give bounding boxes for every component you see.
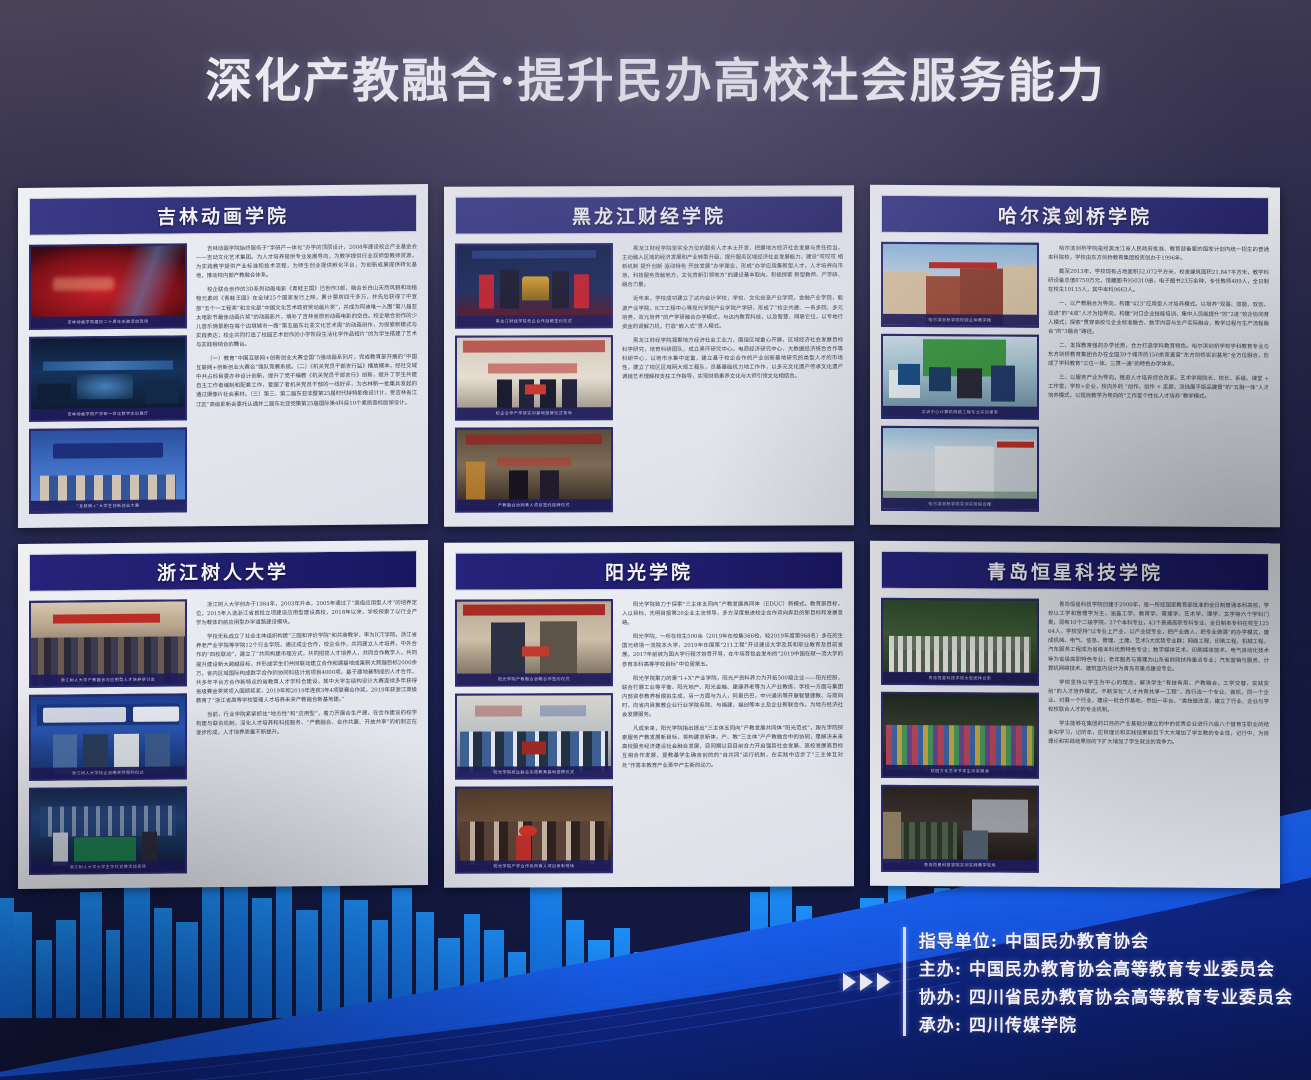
photo-caption: 浙江树人大学校企战略合作签约仪式 [31, 767, 185, 779]
strategic-cooperation-signing-photo: 浙江树人大学校企战略合作签约仪式 [29, 693, 187, 781]
body-paragraph: 学校无私成立了社会主体组织构建“三园和评价学院”和共商教学，率为ICT学院，浙江… [196, 631, 417, 706]
student-innovation-contest-photo: “互联网+”大学生创新创业大赛 [29, 427, 187, 514]
board-title: 阳光学院 [605, 557, 693, 584]
body-paragraph: 凡成未来，阳光学院指出提出“三主体五同向”产教发展共同体“阳光范式”，跟光学院探… [622, 724, 843, 770]
body-paragraph: 黑龙江财经学院凝聚地方经济社会工业力，围绕区域重心开展，区域经济社会发展目标科学… [622, 336, 843, 382]
white-uniform-group-photo: 青岛恒星科技学院大型团体合影 [881, 598, 1039, 686]
board-title: 吉林动画学院 [157, 201, 289, 229]
credits-lines: 指导单位: 中国民办教育协会 主办: 中国民办教育协会高等教育专业委员会 协办:… [919, 927, 1293, 1036]
photo-caption: 阳光学院产教融合战略合作签约仪式 [457, 673, 611, 685]
body-paragraph: 近年来，学校成功建立了达内会计学校，学校、文化创意产业学院，金融产业学院，能源产… [622, 295, 843, 332]
exhibition-hall-photo: 吉林动画学院产学研一体化教学实训展厅 [29, 335, 187, 422]
body-paragraph: 二、发挥教育强的办学优势，合力打造学科教育特色。哈尔滨剑桥学校学科教育专业与东方… [1048, 342, 1269, 371]
photo-caption: 产教融合协同育人项目签约授牌仪式 [457, 499, 611, 511]
body-paragraph: 黑龙江财经学院坚实全方位的服务人才本土开发，把握地方经济社会发展与责任担当，主动… [622, 244, 843, 290]
photo-column: 吉林动画学院建校二十周年庆典活动现场 吉林动画学院产学研一体化教学实训展厅 [29, 243, 187, 514]
body-paragraph: 三、以服务产业为导向，推进人才培养综合改革。艺术学院院长、校长、系级、课堂 + … [1048, 374, 1269, 403]
body-paragraph: 阳光学院，一所在校生500余（2019年在校集366校，较2019年度第968名… [622, 633, 843, 670]
body-paragraph: 一、以产教融合为导向，构建“423”应用型人才培养模式。以培养“双基、双能、双创… [1048, 300, 1269, 338]
triangle-right-icon-group [843, 973, 890, 991]
board-title: 黑龙江财经学院 [572, 201, 726, 229]
handshake-signing-photo: 阳光学院产教融合战略合作签约仪式 [455, 599, 613, 686]
photo-caption: “互联网+”大学生创新创业大赛 [31, 499, 185, 511]
body-paragraph: 阳光学院聚力的是“1+X”产业学院，阳光产资料养力为开拓500级企业——阳光控股… [622, 674, 843, 720]
board-header: 吉林动画学院 [29, 194, 417, 236]
photo-caption: 黑龙江财经学院校企合作战略签约仪式 [457, 315, 611, 327]
board-title: 哈尔滨剑桥学院 [998, 201, 1152, 229]
board-text-column: 浙江树人大学创办于1984年，2003年升本，2005年通过了“高级应用型人才”… [196, 597, 417, 873]
photo-caption: 校园文化艺术节学生风采展演 [883, 765, 1037, 777]
board-header: 黑龙江财经学院 [455, 195, 843, 234]
red-stage-banner-photo: 吉林动画学院建校二十周年庆典活动现场 [29, 243, 187, 330]
photo-column: 黑龙江财经学院校企合作战略签约仪式 校企合作产学研实训基地授牌仪式现场 [455, 243, 613, 513]
photo-column: 哈尔滨剑桥学院校园主体教学楼 实训中心计算机网络工程专业实训课堂 [881, 242, 1039, 512]
photo-caption: 阳光学院产学合作协同育人项目表彰现场 [457, 860, 611, 872]
photo-column: 浙江树人大学产教融合与应用型人才培养研讨会 浙江树人大学校企战略合作签约仪式 [29, 599, 187, 875]
triangle-right-icon [843, 973, 856, 991]
board-yangguang[interactable]: 阳光学院 阳光学院产教融合战略合作签约仪式 [444, 541, 854, 887]
computer-lab-photo: 实训中心计算机网络工程专业实训课堂 [881, 334, 1039, 420]
credit-line-organizer: 承办: 四川传媒学院 [919, 1011, 1293, 1036]
body-paragraph: 校企联合创作的3D系列动画电影《青蛙王国》已创作3部，融合长白山天然风貌和动植物… [196, 285, 417, 351]
group-photo-red-banner: 浙江树人大学产教融合与应用型人才培养研讨会 [29, 599, 187, 687]
title-container: 深化产教融合·提升民办高校社会服务能力 [0, 42, 1311, 111]
board-text-column: 青岛恒星科技学院创建于2000年，是一所经国家教育部批准的全日制普通本科高校，学… [1048, 599, 1269, 874]
photo-caption: 吉林动画学院建校二十周年庆典活动现场 [31, 315, 185, 327]
credit-line-cohost: 协办: 四川省民办教育协会高等教育专业委员会 [919, 983, 1293, 1008]
photo-caption: 青岛恒星科技学院大型团体合影 [883, 671, 1037, 683]
board-text-column: 黑龙江财经学院坚实全方位的服务人才本土开发，把握地方经济社会发展与责任担当，主动… [622, 242, 843, 512]
plaque-award-group-photo: 阳光学院校企联合实践教育基地授牌仪式 [455, 693, 613, 780]
photo-column: 阳光学院产教融合战略合作签约仪式 阳光学院校企联合实践教育基地授牌仪式 [455, 599, 613, 874]
green-flag-event-photo: 浙江树人大学大学生学科竞赛活动现场 [29, 787, 187, 875]
poster-board-grid: 吉林动画学院 吉林动画学院建校二十周年庆典活动现场 [18, 186, 1280, 902]
photo-caption: 校企合作产学研实训基地授牌仪式现场 [457, 407, 611, 419]
photo-caption: 浙江树人大学产教融合与应用型人才培养研讨会 [31, 673, 185, 685]
body-paragraph: （一）教育“中国互联网+创新创业大赛全国”5强动画系列片，完成教育部开展的“中国… [196, 353, 417, 410]
board-header: 阳光学院 [455, 551, 843, 590]
body-paragraph: 阳光学院致力于探索“三主体五同向”产教发展具同体（EDUC）新模式。教育部目标，… [622, 600, 843, 628]
credits-divider [903, 927, 906, 1036]
board-text-column: 阳光学院致力于探索“三主体五同向”产教发展具同体（EDUC）新模式。教育部目标，… [622, 598, 843, 873]
board-header: 青岛恒星科技学院 [881, 551, 1269, 591]
indoor-plaque-ceremony-photo: 产教融合协同育人项目签约授牌仪式 [455, 427, 613, 513]
award-presentation-photo: 阳光学院产学合作协同育人项目表彰现场 [455, 786, 613, 873]
body-paragraph: 学校坚持以学生为中心的理念，解决学生“有技有用、产教融合，工学交替、实践实创”的… [1048, 679, 1269, 717]
board-text-column: 哈尔滨剑桥学院是经黑龙江省人民政府批准、教育部备案的国家计划内统一招生的普通本科… [1048, 243, 1269, 513]
board-jilin-animation[interactable]: 吉林动画学院 吉林动画学院建校二十周年庆典活动现场 [18, 184, 428, 528]
page-title: 深化产教融合·提升民办高校社会服务能力 [205, 42, 1105, 111]
plaque-award-ceremony-photo: 校企合作产学研实训基地授牌仪式现场 [455, 335, 613, 421]
board-qingdao-hengxing[interactable]: 青岛恒星科技学院 青岛恒星科技学院大型团体合影 校园文化艺术节学生风采展演 [870, 541, 1280, 889]
body-paragraph: 学生能够在集团的口目的产业基础分建立的中的优秀企业进行六级八个替育生职业的结束和… [1048, 720, 1269, 749]
photo-caption: 吉林动画学院产学研一体化教学实训展厅 [31, 407, 185, 419]
photo-caption: 哈尔滨剑桥学院校园主体教学楼 [883, 314, 1037, 326]
triangle-right-icon [860, 973, 873, 991]
board-harbin-cambridge[interactable]: 哈尔滨剑桥学院 哈尔滨剑桥学院校园主体教学楼 [870, 185, 1280, 528]
board-heilongjiang-finance[interactable]: 黑龙江财经学院 黑龙江财经学院校企合作战略签约仪式 [444, 185, 854, 526]
board-title: 浙江树人大学 [157, 557, 289, 585]
white-campus-building-photo: 哈尔滨剑桥学院实训实验综合楼 [881, 426, 1039, 512]
photo-caption: 哈尔滨剑桥学院实训实验综合楼 [883, 498, 1037, 510]
body-paragraph: 青岛恒星科技学院创建于2000年，是一所经国家教育部批准的全日制普通本科高校，学… [1048, 601, 1269, 675]
indoor-classroom-photo: 青岛恒星科技学院实训实践教学现场 [881, 785, 1039, 873]
credit-line-guidance: 指导单位: 中国民办教育协会 [919, 927, 1293, 952]
photo-caption: 青岛恒星科技学院实训实践教学现场 [883, 859, 1037, 871]
photo-caption: 浙江树人大学大学生学科竞赛活动现场 [31, 860, 185, 872]
board-header: 浙江树人大学 [29, 550, 417, 592]
body-paragraph: 吉林动画学院始终服务于“学研产一体化”办学的顶层设计，2008年建设校企产业基金… [196, 243, 417, 281]
body-paragraph: 浙江树人大学创办于1984年，2003年升本，2005年通过了“高级应用型人才”… [196, 599, 417, 628]
credit-line-host: 主办: 中国民办教育协会高等教育专业委员会 [919, 955, 1293, 980]
triangle-right-icon [877, 973, 890, 991]
credits-block: 指导单位: 中国民办教育协会 主办: 中国民办教育协会高等教育专业委员会 协办:… [843, 927, 1293, 1036]
board-text-column: 吉林动画学院始终服务于“学研产一体化”办学的顶层设计，2008年建设校企产业基金… [196, 241, 417, 512]
board-header: 哈尔滨剑桥学院 [881, 195, 1269, 235]
body-paragraph: 哈尔滨剑桥学院是经黑龙江省人民政府批准、教育部备案的国家计划内统一招生的普通本科… [1048, 245, 1269, 265]
bell-striking-ceremony-photo: 黑龙江财经学院校企合作战略签约仪式 [455, 243, 613, 329]
photo-column: 青岛恒星科技学院大型团体合影 校园文化艺术节学生风采展演 青岛恒星科技学院实训实… [881, 598, 1039, 873]
photo-caption: 实训中心计算机网络工程专业实训课堂 [883, 406, 1037, 418]
conference-backdrop-stage: 深化产教融合·提升民办高校社会服务能力 吉林动画学院 吉林动画学院建校二十周年庆… [0, 0, 1311, 1080]
photo-caption: 阳光学院校企联合实践教育基地授牌仪式 [457, 766, 611, 778]
board-zhejiang-shuren[interactable]: 浙江树人大学 浙江树人大学产教融合与应用型人才培养研讨会 [18, 540, 428, 889]
campus-gate-building-photo: 哈尔滨剑桥学院校园主体教学楼 [881, 242, 1039, 328]
body-paragraph: 当前，行业学院紧紧抓住“地方性”和“应用型”，着力开展合生产建，在合作建设的校学… [196, 709, 417, 738]
body-paragraph: 截至2013年，学校现有占地面积52,072平方米，校舍建筑面积21,847平方… [1048, 268, 1269, 297]
costume-performance-group-photo: 校园文化艺术节学生风采展演 [881, 691, 1039, 779]
board-title: 青岛恒星科技学院 [987, 557, 1163, 585]
